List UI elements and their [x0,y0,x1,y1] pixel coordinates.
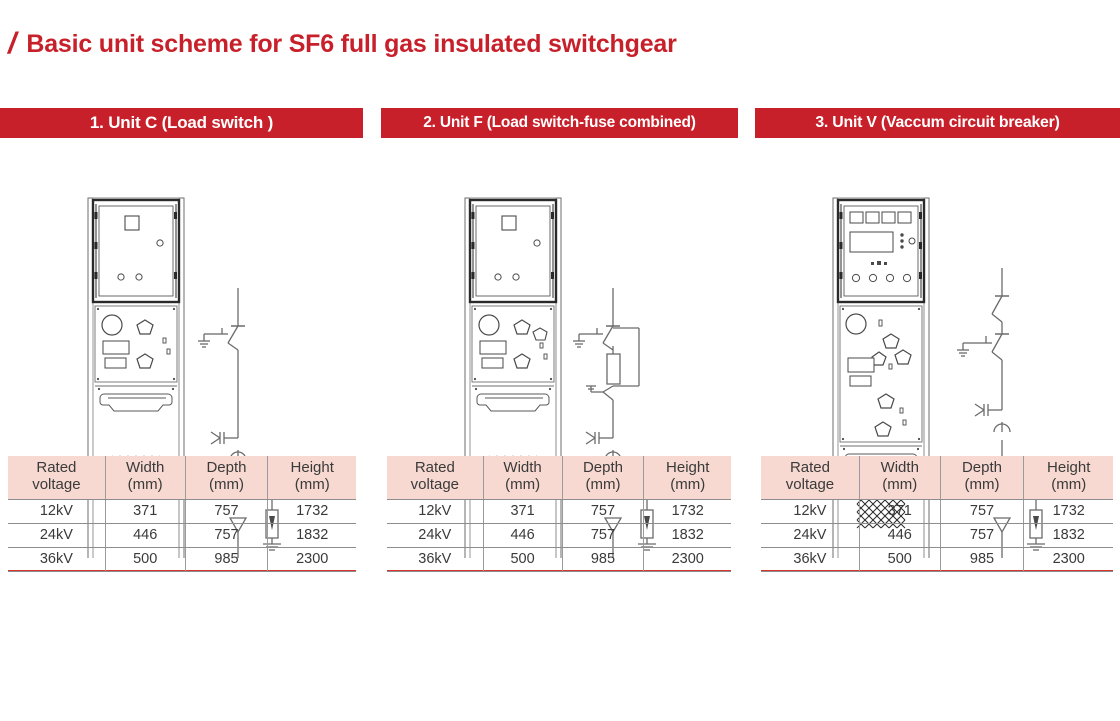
cell-height: 1832 [1024,524,1113,548]
table-row: 24kV 446 757 1832 [8,524,356,548]
cell-height: 1732 [644,500,731,524]
header-line-1: Depth [565,460,642,477]
cell-rated-voltage: 24kV [387,524,483,548]
cell-width: 446 [105,524,185,548]
cell-height: 1832 [268,524,356,548]
cell-height: 2300 [268,548,356,572]
voltage-indicator [211,432,238,444]
cell-rated-voltage: 36kV [761,548,859,572]
col-header-width: Width (mm) [483,456,562,499]
vacuum-circuit-breaker [992,334,1009,360]
table-row: 36kV 500 985 2300 [387,548,731,572]
header-line-1: Rated [389,460,481,477]
hv-fuse-branch [607,328,639,386]
header-line-1: Width [862,460,938,477]
cell-height: 1832 [644,524,731,548]
voltage-indicator [975,404,1002,416]
unit-c-header: 1. Unit C (Load switch ) [0,108,363,138]
cell-width: 500 [859,548,940,572]
cell-height: 1732 [1024,500,1113,524]
header-line-2: (mm) [943,477,1022,494]
unit-v-spec-table-wrap: Rated voltage Width (mm) Depth (mm) Heig… [761,570,1113,572]
cell-width: 371 [105,500,185,524]
table-row: 12kV 371 757 1732 [387,500,731,524]
header-line-2: (mm) [1026,477,1111,494]
header-line-1: Depth [188,460,266,477]
col-header-height: Height (mm) [1024,456,1113,499]
cell-rated-voltage: 12kV [761,500,859,524]
header-line-2: voltage [389,477,481,494]
cell-height: 2300 [644,548,731,572]
col-header-rated-voltage: Rated voltage [8,456,105,499]
table-row: 12kV 371 757 1732 [8,500,356,524]
lv-control-compartment [470,200,556,302]
header-line-2: (mm) [486,477,560,494]
unit-column-unit-c: 1. Unit C (Load switch ) [0,108,363,558]
cell-depth: 985 [185,548,268,572]
operating-mimic-panel [472,306,554,382]
table-header-row: Rated voltage Width (mm) Depth (mm) Heig… [761,456,1113,499]
header-line-2: (mm) [862,477,938,494]
table-row: 36kV 500 985 2300 [761,548,1113,572]
cell-rated-voltage: 24kV [761,524,859,548]
header-line-2: (mm) [108,477,183,494]
col-header-height: Height (mm) [268,456,356,499]
cell-height: 2300 [1024,548,1113,572]
cell-depth: 757 [562,524,644,548]
col-header-depth: Depth (mm) [185,456,268,499]
header-line-1: Width [108,460,183,477]
page-title-row: / Basic unit scheme for SF6 full gas ins… [0,22,1120,66]
cell-rated-voltage: 12kV [387,500,483,524]
unit-v-header: 3. Unit V (Vaccum circuit breaker) [755,108,1120,138]
header-line-1: Height [646,460,729,477]
col-header-width: Width (mm) [105,456,185,499]
disconnector [992,296,1009,322]
table-row: 24kV 446 757 1832 [387,524,731,548]
col-header-depth: Depth (mm) [562,456,644,499]
earthing-switch [957,336,992,356]
header-line-2: (mm) [565,477,642,494]
cell-height: 1732 [268,500,356,524]
header-line-1: Depth [943,460,1022,477]
table-header-row: Rated voltage Width (mm) Depth (mm) Heig… [8,456,356,499]
header-line-2: (mm) [270,477,354,494]
col-header-rated-voltage: Rated voltage [387,456,483,499]
cell-rated-voltage: 36kV [387,548,483,572]
cell-width: 446 [483,524,562,548]
unit-f-spec-table: Rated voltage Width (mm) Depth (mm) Heig… [387,456,731,572]
title-accent-slash: / [8,29,16,59]
cell-width: 500 [483,548,562,572]
cell-depth: 757 [562,500,644,524]
cell-depth: 757 [185,500,268,524]
unit-c-spec-table: Rated voltage Width (mm) Depth (mm) Heig… [8,456,356,572]
header-line-1: Rated [10,460,103,477]
operating-mimic-panel [840,306,922,442]
cell-rated-voltage: 36kV [8,548,105,572]
header-line-1: Height [1026,460,1111,477]
header-line-1: Height [270,460,354,477]
unit-c-spec-table-wrap: Rated voltage Width (mm) Depth (mm) Heig… [8,570,356,572]
unit-column-unit-v: 3. Unit V (Vaccum circuit breaker) [755,108,1120,558]
header-line-2: voltage [10,477,103,494]
table-row: 36kV 500 985 2300 [8,548,356,572]
table-row: 12kV 371 757 1732 [761,500,1113,524]
table-header-row: Rated voltage Width (mm) Depth (mm) Heig… [387,456,731,499]
lv-control-compartment [93,200,179,302]
operating-mimic-panel [95,306,177,382]
earthing-switch-upper [198,328,228,347]
header-line-2: (mm) [646,477,729,494]
earthing-switch-lower [586,386,613,400]
header-line-2: (mm) [188,477,266,494]
voltage-indicator [586,432,613,444]
header-line-1: Width [486,460,560,477]
page-title: Basic unit scheme for SF6 full gas insul… [26,30,676,59]
header-line-2: voltage [763,477,857,494]
unit-column-unit-f: 2. Unit F (Load switch-fuse combined) [381,108,738,558]
col-header-width: Width (mm) [859,456,940,499]
cell-width: 371 [483,500,562,524]
col-header-rated-voltage: Rated voltage [761,456,859,499]
unit-f-header: 2. Unit F (Load switch-fuse combined) [381,108,738,138]
cell-depth: 985 [562,548,644,572]
cell-rated-voltage: 24kV [8,524,105,548]
table-row: 24kV 446 757 1832 [761,524,1113,548]
cell-width: 371 [859,500,940,524]
cell-width: 500 [105,548,185,572]
cell-depth: 757 [940,500,1024,524]
unit-f-spec-table-wrap: Rated voltage Width (mm) Depth (mm) Heig… [387,570,731,572]
cell-depth: 757 [940,524,1024,548]
cell-depth: 985 [940,548,1024,572]
cell-rated-voltage: 12kV [8,500,105,524]
col-header-depth: Depth (mm) [940,456,1024,499]
unit-v-spec-table: Rated voltage Width (mm) Depth (mm) Heig… [761,456,1113,572]
earthing-switch-upper [573,328,603,347]
protection-relay-panel [838,200,924,302]
cell-depth: 757 [185,524,268,548]
cell-width: 446 [859,524,940,548]
col-header-height: Height (mm) [644,456,731,499]
header-line-1: Rated [763,460,857,477]
